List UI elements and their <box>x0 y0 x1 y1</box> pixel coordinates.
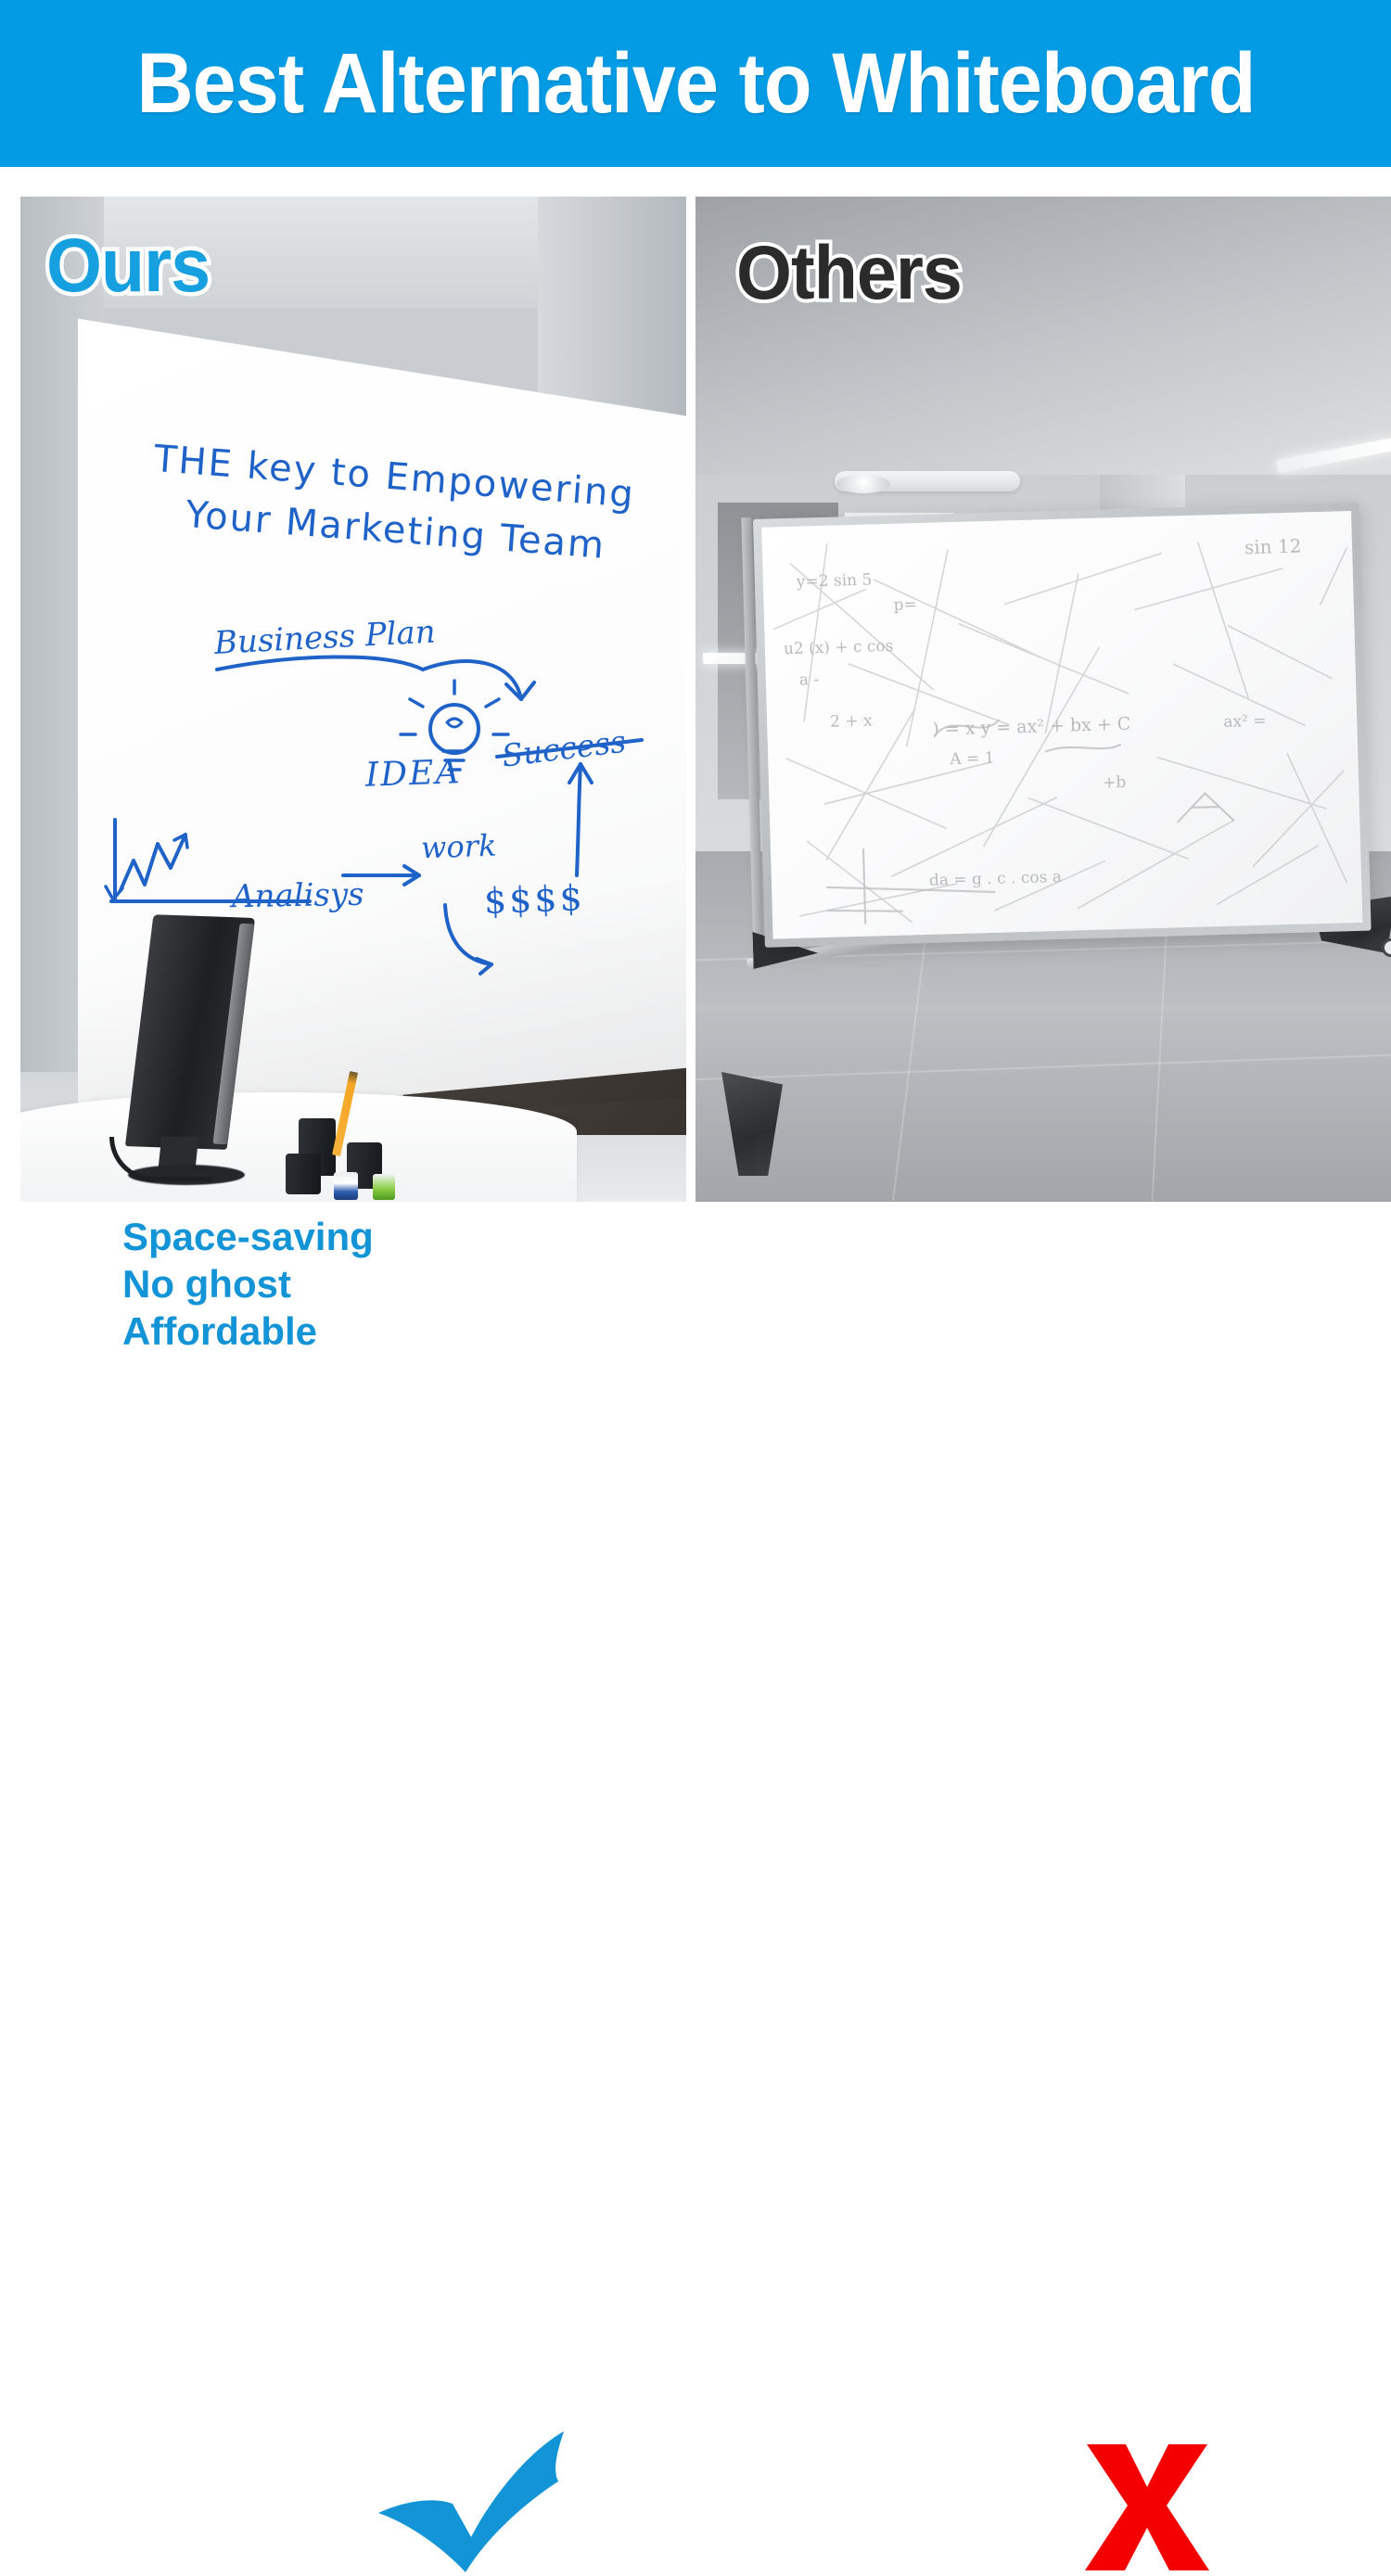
ghost-equation: ax² = <box>1223 712 1267 732</box>
note-idea: IDEA <box>364 753 462 795</box>
ghost-equation: y=2 sin 5 <box>797 570 873 591</box>
whiteboard-surface-ghosted: y=2 sin 5 p= u2 (x) + c cos a - 2 + x ) … <box>761 511 1362 939</box>
header-banner: Best Alternative to Whiteboard <box>0 0 1391 167</box>
ghost-equation: A = 1 <box>950 749 995 769</box>
summary-ours: Space-saving No ghost Affordable <box>0 1205 695 1376</box>
ours-scene-photo: THE key to Empowering Your Marketing Tea… <box>20 197 686 1202</box>
comparison-panels: THE key to Empowering Your Marketing Tea… <box>0 197 1391 1202</box>
note-analisys: Analisys <box>232 876 364 915</box>
check-icon <box>375 2428 577 2576</box>
ceiling-fixture-disc <box>836 475 890 493</box>
ghost-equation: 2 + x <box>830 711 873 731</box>
ghost-equation: +b <box>1103 773 1127 793</box>
pen-cup <box>286 1154 321 1194</box>
panel-ours: THE key to Empowering Your Marketing Tea… <box>20 197 686 1202</box>
bottom-summary: Space-saving No ghost Affordable Clunky … <box>0 1205 1391 1376</box>
ghost-equation: p= <box>893 595 917 615</box>
ghost-equation: sin 12 <box>1244 535 1302 559</box>
panel-label-others: Others <box>736 230 962 317</box>
panel-label-ours: Ours <box>46 223 210 310</box>
benefit-item: Affordable <box>122 1307 374 1355</box>
benefit-item: No ghost <box>122 1260 374 1307</box>
aluminum-frame: y=2 sin 5 p= u2 (x) + c cos a - 2 + x ) … <box>753 503 1372 948</box>
x-icon <box>1078 2439 1217 2576</box>
note-work: work <box>420 828 497 866</box>
panel-others: y=2 sin 5 p= u2 (x) + c cos a - 2 + x ) … <box>695 197 1391 1202</box>
benefit-item: Space-saving <box>122 1213 374 1260</box>
marker-green <box>373 1174 395 1200</box>
benefits-list: Space-saving No ghost Affordable <box>122 1213 374 1356</box>
page-title: Best Alternative to Whiteboard <box>136 35 1255 133</box>
ghost-equation: da = g . c . cos a <box>929 868 1062 890</box>
ghost-equation: u2 (x) + c cos <box>784 637 894 658</box>
summary-others: Clunky Ghosting Expensive <box>695 1205 1391 1376</box>
note-money: $$$$ <box>483 877 585 922</box>
marker-blue <box>334 1172 358 1200</box>
mobile-whiteboard: y=2 sin 5 p= u2 (x) + c cos a - 2 + x ) … <box>753 503 1372 948</box>
ghost-equation: a - <box>799 670 820 690</box>
others-scene-photo: y=2 sin 5 p= u2 (x) + c cos a - 2 + x ) … <box>695 197 1391 1202</box>
